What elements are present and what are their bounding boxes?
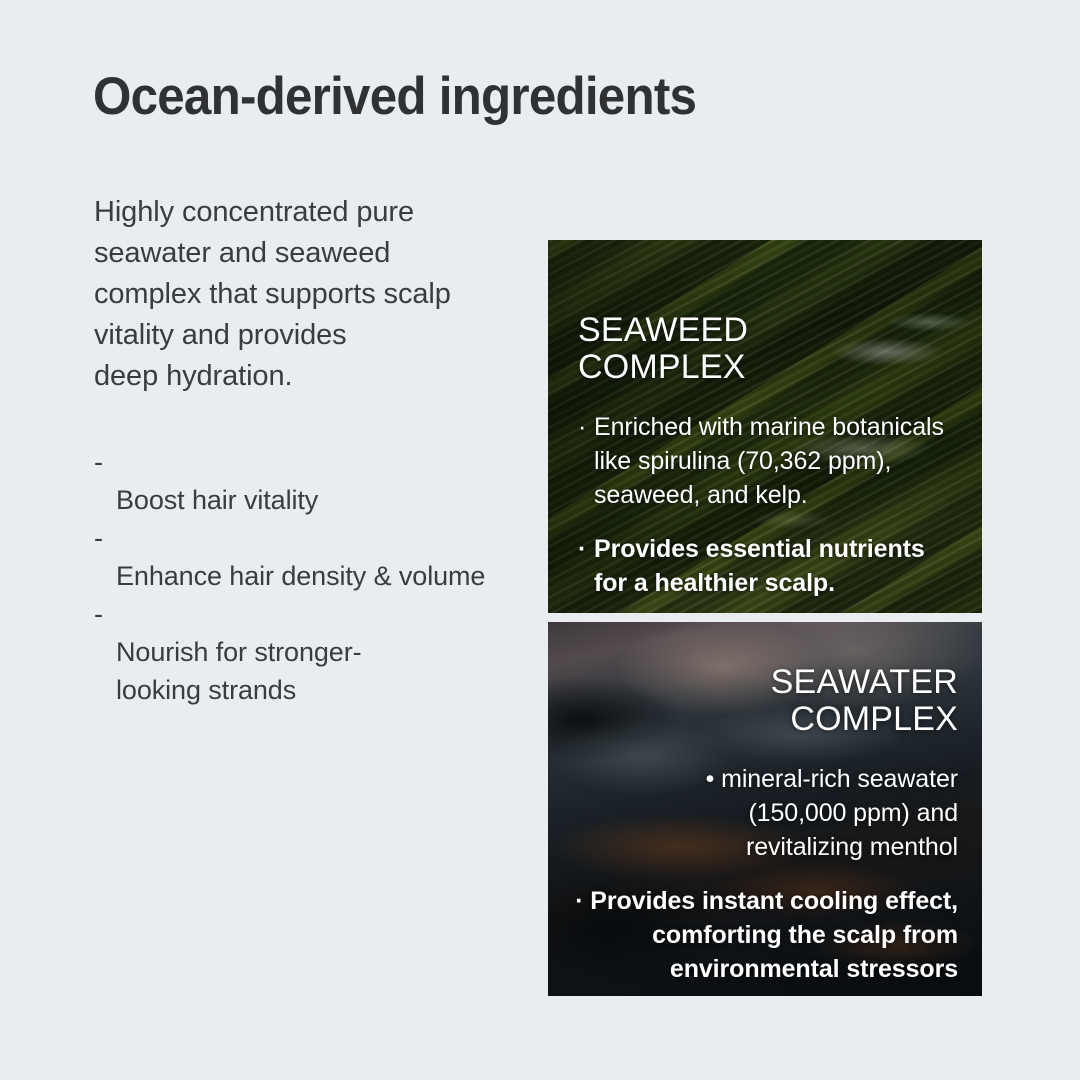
intro-line-2: seawater and seaweed [94, 233, 514, 274]
seaweed-card-heading: SEAWEED COMPLEX [578, 312, 958, 386]
seawater-heading-line-2: COMPLEX [572, 701, 958, 738]
seawater-bullet-line: • mineral-rich seawater [572, 762, 958, 796]
bullet-dash-icon: - [94, 595, 103, 633]
seawater-bullet-text: Provides instant cooling effect, [590, 887, 958, 915]
seaweed-heading-line-2: COMPLEX [578, 349, 958, 386]
intro-line-5: deep hydration. [94, 356, 514, 397]
seawater-bullet-line: revitalizing menthol [572, 830, 958, 864]
bullet-dot-icon: · [578, 410, 586, 444]
seaweed-heading-line-1: SEAWEED [578, 312, 958, 349]
seaweed-bullet-line: for a healthier scalp. [594, 566, 958, 600]
bullet-dot-icon: · [575, 887, 583, 915]
seaweed-bullet-line: like spirulina (70,362 ppm), [594, 444, 958, 478]
seawater-bullet-line: environmental stressors [572, 952, 958, 986]
seaweed-bullet-item: · Provides essential nutrients for a hea… [578, 532, 958, 600]
ingredient-card-seaweed: SEAWEED COMPLEX · Enriched with marine b… [548, 240, 982, 613]
bullet-dot-icon: · [578, 532, 586, 566]
seawater-bullet-item: • mineral-rich seawater (150,000 ppm) an… [572, 762, 958, 864]
seaweed-bullet-item: · Enriched with marine botanicals like s… [578, 410, 958, 512]
seaweed-bullet-line: Enriched with marine botanicals [594, 410, 958, 444]
benefit-item: -Boost hair vitality [94, 443, 514, 519]
intro-line-3: complex that supports scalp [94, 274, 514, 315]
seawater-bullet-text: mineral-rich seawater [721, 765, 958, 793]
seawater-bullet-line: (150,000 ppm) and [572, 796, 958, 830]
seawater-bullet-list: • mineral-rich seawater (150,000 ppm) an… [572, 762, 958, 986]
bullet-dash-icon: - [94, 519, 103, 557]
seaweed-card-content: SEAWEED COMPLEX · Enriched with marine b… [548, 240, 982, 613]
seaweed-bullet-line: seaweed, and kelp. [594, 478, 958, 512]
seawater-card-heading: SEAWATER COMPLEX [572, 664, 958, 738]
benefit-label: Boost hair vitality [116, 485, 318, 515]
intro-paragraph: Highly concentrated pure seawater and se… [94, 192, 514, 397]
intro-line-1: Highly concentrated pure [94, 192, 514, 233]
ingredient-info-page: Ocean-derived ingredients Highly concent… [0, 0, 1080, 1080]
bullet-dash-icon: - [94, 443, 103, 481]
seawater-bullet-item: · Provides instant cooling effect, comfo… [572, 884, 958, 986]
benefit-list: -Boost hair vitality -Enhance hair densi… [94, 443, 514, 709]
seawater-bullet-line: · Provides instant cooling effect, [572, 884, 958, 918]
seawater-card-content: SEAWATER COMPLEX • mineral-rich seawater… [548, 622, 982, 996]
seaweed-bullet-list: · Enriched with marine botanicals like s… [578, 410, 958, 600]
bullet-dot-icon: • [706, 765, 715, 793]
seawater-heading-line-1: SEAWATER [572, 664, 958, 701]
benefit-item: -Enhance hair density & volume [94, 519, 514, 595]
ingredient-card-seawater: SEAWATER COMPLEX • mineral-rich seawater… [548, 622, 982, 996]
intro-line-4: vitality and provides [94, 315, 514, 356]
benefit-item: -Nourish for stronger- looking strands [94, 595, 514, 709]
seawater-bullet-line: comforting the scalp from [572, 918, 958, 952]
page-title: Ocean-derived ingredients [93, 68, 696, 125]
left-text-column: Highly concentrated pure seawater and se… [94, 192, 514, 709]
benefit-label: Nourish for stronger- looking strands [116, 637, 362, 705]
seaweed-bullet-line: Provides essential nutrients [594, 532, 958, 566]
benefit-label: Enhance hair density & volume [116, 561, 485, 591]
